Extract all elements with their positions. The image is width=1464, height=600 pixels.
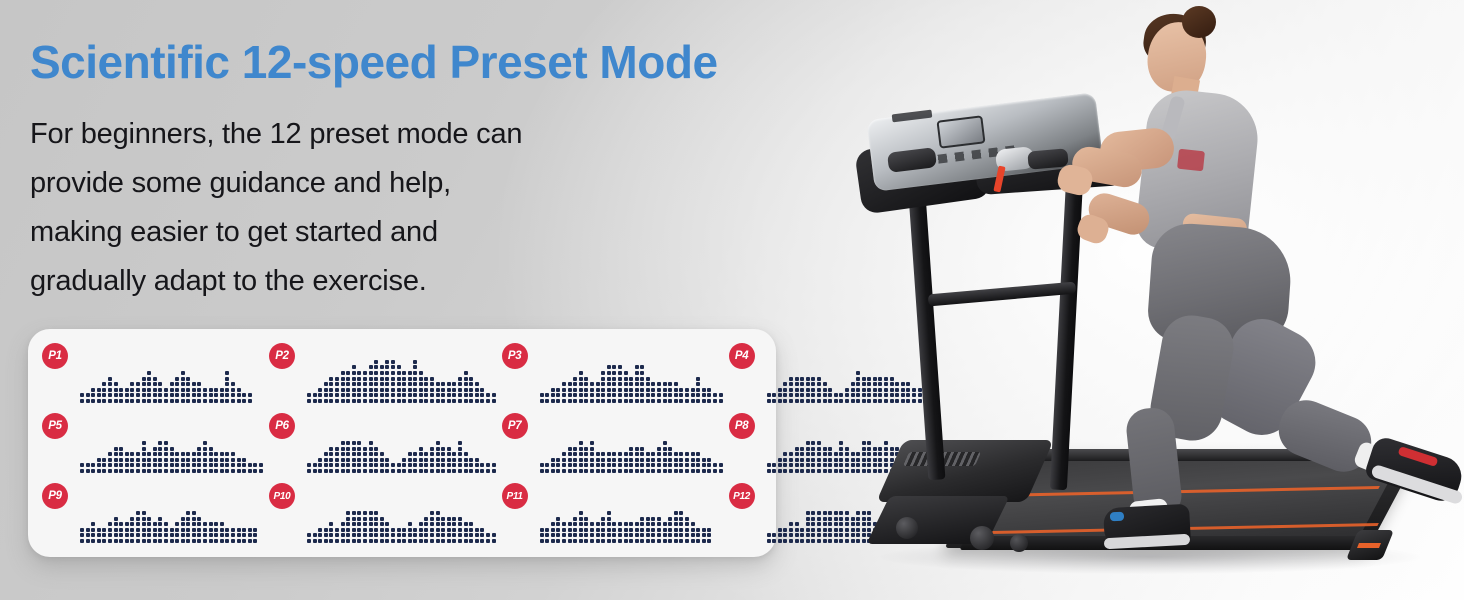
profile-dot [584, 452, 588, 456]
profile-column [573, 447, 577, 473]
profile-dot [772, 469, 776, 473]
profile-dot [192, 522, 196, 526]
profile-dot [795, 539, 799, 543]
profile-dot [346, 441, 350, 445]
profile-column [136, 452, 140, 473]
profile-dot [452, 539, 456, 543]
profile-dot [646, 393, 650, 397]
profile-dot [136, 528, 140, 532]
profile-dot [248, 399, 252, 403]
profile-dot [335, 463, 339, 467]
profile-dot [668, 399, 672, 403]
profile-dot [579, 382, 583, 386]
profile-dot [341, 452, 345, 456]
upright-frame-left [908, 180, 946, 480]
profile-dot [142, 399, 146, 403]
profile-dot [363, 458, 367, 462]
profile-dot [612, 452, 616, 456]
profile-dot [225, 463, 229, 467]
profile-dot [590, 452, 594, 456]
profile-dot [663, 447, 667, 451]
profile-dot [357, 517, 361, 521]
profile-dot [668, 382, 672, 386]
profile-column [197, 382, 201, 403]
profile-column [86, 393, 90, 403]
profile-dot [475, 399, 479, 403]
profile-dot [158, 528, 162, 532]
profile-column [696, 528, 700, 543]
profile-dot [153, 522, 157, 526]
profile-column [91, 522, 95, 543]
profile-column [363, 371, 367, 403]
profile-dot [352, 533, 356, 537]
profile-dot [436, 452, 440, 456]
profile-dot [357, 393, 361, 397]
profile-dot [318, 533, 322, 537]
profile-column [545, 393, 549, 403]
profile-dot [164, 458, 168, 462]
profile-dot [158, 447, 162, 451]
profile-dot [164, 447, 168, 451]
promo-banner: Scientific 12-speed Preset Mode For begi… [0, 0, 1464, 600]
profile-dot [369, 377, 373, 381]
preset-item-p1[interactable]: P1 [36, 339, 263, 409]
profile-dot [657, 463, 661, 467]
preset-item-p7[interactable]: P7 [496, 409, 723, 479]
profile-dot [153, 533, 157, 537]
profile-column [663, 522, 667, 543]
profile-dot [346, 528, 350, 532]
profile-dot [573, 522, 577, 526]
profile-dot [685, 517, 689, 521]
frame-cross-bar [928, 282, 1076, 307]
profile-dot [80, 469, 84, 473]
profile-column [329, 377, 333, 403]
profile-column [691, 388, 695, 403]
profile-dot [197, 393, 201, 397]
profile-column [657, 382, 661, 403]
profile-dot [635, 452, 639, 456]
profile-dot [663, 388, 667, 392]
profile-dot [385, 360, 389, 364]
profile-dot [91, 393, 95, 397]
profile-dot [385, 371, 389, 375]
profile-dot [579, 377, 583, 381]
profile-column [646, 377, 650, 403]
profile-dot [674, 539, 678, 543]
profile-column [242, 393, 246, 403]
profile-column [596, 452, 600, 473]
profile-dot [562, 528, 566, 532]
profile-dot [374, 517, 378, 521]
profile-dot [691, 533, 695, 537]
profile-column [352, 511, 356, 543]
profile-dot [130, 452, 134, 456]
profile-dot [629, 463, 633, 467]
profile-dot [220, 528, 224, 532]
profile-dot [203, 447, 207, 451]
profile-dot [795, 469, 799, 473]
profile-dot [646, 522, 650, 526]
profile-column [363, 511, 367, 543]
profile-dot [214, 469, 218, 473]
profile-dot [363, 371, 367, 375]
profile-dot [318, 528, 322, 532]
profile-column [197, 517, 201, 543]
profile-dot [102, 528, 106, 532]
profile-dot [707, 458, 711, 462]
profile-dot [663, 533, 667, 537]
profile-dot [114, 452, 118, 456]
profile-dot [413, 360, 417, 364]
profile-dot [441, 533, 445, 537]
profile-dot [357, 458, 361, 462]
profile-column [335, 447, 339, 473]
profile-dot [108, 393, 112, 397]
profile-column [369, 441, 373, 473]
profile-column [596, 522, 600, 543]
profile-dot [584, 533, 588, 537]
profile-dot [329, 399, 333, 403]
profile-dot [486, 463, 490, 467]
profile-dot [119, 463, 123, 467]
profile-dot [657, 533, 661, 537]
profile-dot [369, 382, 373, 386]
profile-dot [380, 463, 384, 467]
profile-column [691, 522, 695, 543]
profile-column [584, 517, 588, 543]
profile-dot [646, 399, 650, 403]
profile-dot [562, 539, 566, 543]
profile-dot [590, 382, 594, 386]
profile-dot [469, 539, 473, 543]
profile-dot [374, 377, 378, 381]
profile-column [419, 447, 423, 473]
profile-dot [352, 452, 356, 456]
profile-dot [374, 371, 378, 375]
profile-dot [147, 539, 151, 543]
profile-dot [114, 458, 118, 462]
profile-dot [419, 469, 423, 473]
profile-dot [385, 528, 389, 532]
profile-dot [408, 522, 412, 526]
profile-dot [119, 458, 123, 462]
profile-dot [579, 393, 583, 397]
profile-column [441, 382, 445, 403]
profile-dot [789, 522, 793, 526]
profile-column [612, 365, 616, 403]
profile-dot [651, 517, 655, 521]
profile-dot [220, 393, 224, 397]
profile-dot [783, 399, 787, 403]
profile-dot [707, 399, 711, 403]
profile-dot [767, 533, 771, 537]
profile-dot [651, 539, 655, 543]
profile-dot [579, 469, 583, 473]
profile-dot [702, 528, 706, 532]
profile-column [607, 511, 611, 543]
profile-dot [225, 539, 229, 543]
profile-column [324, 452, 328, 473]
profile-dot [601, 517, 605, 521]
profile-dot [402, 458, 406, 462]
preset-item-p2[interactable]: P2 [263, 339, 496, 409]
profile-dot [352, 528, 356, 532]
preset-grid: P1P2P3P4P5P6P7P8P9P10P11P12 [28, 329, 776, 557]
profile-dot [369, 371, 373, 375]
profile-dot [114, 382, 118, 386]
profile-dot [164, 399, 168, 403]
profile-column [402, 528, 406, 543]
profile-column [447, 447, 451, 473]
profile-column [209, 447, 213, 473]
profile-column [158, 441, 162, 473]
profile-dot [91, 469, 95, 473]
profile-column [540, 393, 544, 403]
profile-dot [220, 458, 224, 462]
profile-column [175, 452, 179, 473]
profile-dot [175, 377, 179, 381]
profile-dot [307, 399, 311, 403]
profile-dot [341, 528, 345, 532]
profile-dot [108, 377, 112, 381]
profile-column [618, 452, 622, 473]
profile-dot [590, 533, 594, 537]
profile-column [352, 365, 356, 403]
profile-dot [253, 528, 257, 532]
profile-dot [419, 377, 423, 381]
profile-dot [419, 399, 423, 403]
profile-dot [579, 517, 583, 521]
profile-dot [307, 393, 311, 397]
profile-column [674, 452, 678, 473]
profile-dot [142, 441, 146, 445]
profile-dot [203, 452, 207, 456]
profile-dot [114, 388, 118, 392]
profile-dot [125, 458, 129, 462]
profile-dot [612, 399, 616, 403]
profile-dot [231, 539, 235, 543]
preset-item-p11[interactable]: P11 [496, 479, 723, 549]
profile-dot [568, 528, 572, 532]
profile-column [214, 522, 218, 543]
profile-column [778, 458, 782, 473]
profile-column [629, 447, 633, 473]
profile-dot [545, 533, 549, 537]
profile-dot [556, 463, 560, 467]
preset-item-p9[interactable]: P9 [36, 479, 263, 549]
profile-dot [170, 447, 174, 451]
profile-column [192, 382, 196, 403]
profile-dot [329, 388, 333, 392]
body-line-1: For beginners, the 12 preset mode can [30, 110, 670, 159]
profile-dot [629, 528, 633, 532]
profile-dot [430, 382, 434, 386]
profile-dot [441, 528, 445, 532]
profile-column [783, 452, 787, 473]
profile-dot [679, 517, 683, 521]
profile-column [685, 388, 689, 403]
profile-dot [707, 393, 711, 397]
profile-dot [225, 399, 229, 403]
profile-dot [601, 393, 605, 397]
profile-column [469, 458, 473, 473]
profile-dot [657, 399, 661, 403]
profile-column [170, 447, 174, 473]
profile-dot [584, 458, 588, 462]
profile-column [402, 371, 406, 403]
preset-item-p3[interactable]: P3 [496, 339, 723, 409]
preset-item-p10[interactable]: P10 [263, 479, 496, 549]
profile-dot [640, 382, 644, 386]
profile-dot [352, 447, 356, 451]
profile-dot [767, 463, 771, 467]
profile-dot [97, 399, 101, 403]
profile-column [551, 522, 555, 543]
profile-dot [618, 393, 622, 397]
profile-dot [142, 539, 146, 543]
profile-dot [119, 522, 123, 526]
profile-dot [685, 522, 689, 526]
profile-dot [214, 399, 218, 403]
profile-dot [209, 533, 213, 537]
profile-column [142, 377, 146, 403]
profile-dot [707, 463, 711, 467]
profile-dot [158, 382, 162, 386]
profile-dot [158, 463, 162, 467]
profile-dot [447, 399, 451, 403]
profile-column [469, 377, 473, 403]
profile-dot [225, 458, 229, 462]
profile-dot [419, 528, 423, 532]
preset-item-p6[interactable]: P6 [263, 409, 496, 479]
profile-dot [579, 522, 583, 526]
profile-column [419, 522, 423, 543]
profile-column [430, 447, 434, 473]
profile-dot [573, 528, 577, 532]
profile-dot [318, 388, 322, 392]
profile-dot [458, 447, 462, 451]
profile-dot [480, 393, 484, 397]
profile-dot [691, 539, 695, 543]
profile-dot [225, 377, 229, 381]
profile-dot [341, 388, 345, 392]
profile-dot [452, 452, 456, 456]
profile-dot [369, 452, 373, 456]
profile-dot [783, 382, 787, 386]
profile-dot [408, 393, 412, 397]
profile-dot [447, 469, 451, 473]
profile-column [108, 377, 112, 403]
profile-dot [102, 388, 106, 392]
profile-dot [674, 393, 678, 397]
profile-dot [663, 399, 667, 403]
profile-dot [374, 382, 378, 386]
profile-dot [640, 463, 644, 467]
profile-dot [335, 382, 339, 386]
profile-column [307, 393, 311, 403]
profile-dot [618, 399, 622, 403]
profile-dot [430, 463, 434, 467]
profile-dot [475, 388, 479, 392]
profile-dot [203, 463, 207, 467]
profile-dot [696, 458, 700, 462]
profile-dot [562, 533, 566, 537]
profile-dot [357, 452, 361, 456]
profile-dot [225, 528, 229, 532]
preset-speed-profile-p11 [534, 485, 723, 543]
profile-dot [696, 388, 700, 392]
profile-dot [225, 469, 229, 473]
profile-dot [341, 393, 345, 397]
profile-dot [363, 533, 367, 537]
profile-dot [385, 382, 389, 386]
profile-dot [573, 517, 577, 521]
profile-dot [573, 458, 577, 462]
profile-dot [209, 539, 213, 543]
profile-dot [691, 452, 695, 456]
profile-dot [441, 517, 445, 521]
profile-column [707, 388, 711, 403]
profile-dot [130, 399, 134, 403]
profile-column [618, 522, 622, 543]
profile-dot [147, 399, 151, 403]
profile-dot [231, 399, 235, 403]
profile-dot [430, 517, 434, 521]
profile-column [568, 382, 572, 403]
profile-dot [153, 528, 157, 532]
profile-dot [486, 533, 490, 537]
profile-dot [335, 458, 339, 462]
profile-dot [579, 528, 583, 532]
profile-dot [551, 533, 555, 537]
profile-dot [607, 469, 611, 473]
profile-dot [562, 469, 566, 473]
profile-dot [313, 463, 317, 467]
preset-item-p5[interactable]: P5 [36, 409, 263, 479]
profile-dot [424, 393, 428, 397]
profile-dot [441, 539, 445, 543]
profile-dot [186, 399, 190, 403]
profile-dot [618, 469, 622, 473]
profile-dot [430, 452, 434, 456]
profile-dot [142, 469, 146, 473]
profile-dot [248, 463, 252, 467]
profile-dot [596, 458, 600, 462]
profile-dot [436, 447, 440, 451]
profile-dot [108, 452, 112, 456]
profile-dot [436, 399, 440, 403]
profile-dot [102, 539, 106, 543]
profile-dot [679, 528, 683, 532]
preset-speed-profile-p2 [301, 345, 496, 403]
profile-dot [242, 469, 246, 473]
preset-badge-p4: P4 [729, 343, 755, 369]
profile-column [214, 388, 218, 403]
profile-dot [424, 452, 428, 456]
profile-dot [624, 533, 628, 537]
profile-dot [114, 447, 118, 451]
runner-hair-bun [1182, 6, 1216, 38]
profile-column [324, 382, 328, 403]
profile-dot [80, 533, 84, 537]
profile-dot [142, 447, 146, 451]
profile-dot [97, 463, 101, 467]
profile-dot [108, 469, 112, 473]
profile-column [469, 522, 473, 543]
profile-dot [186, 458, 190, 462]
profile-column [391, 463, 395, 473]
